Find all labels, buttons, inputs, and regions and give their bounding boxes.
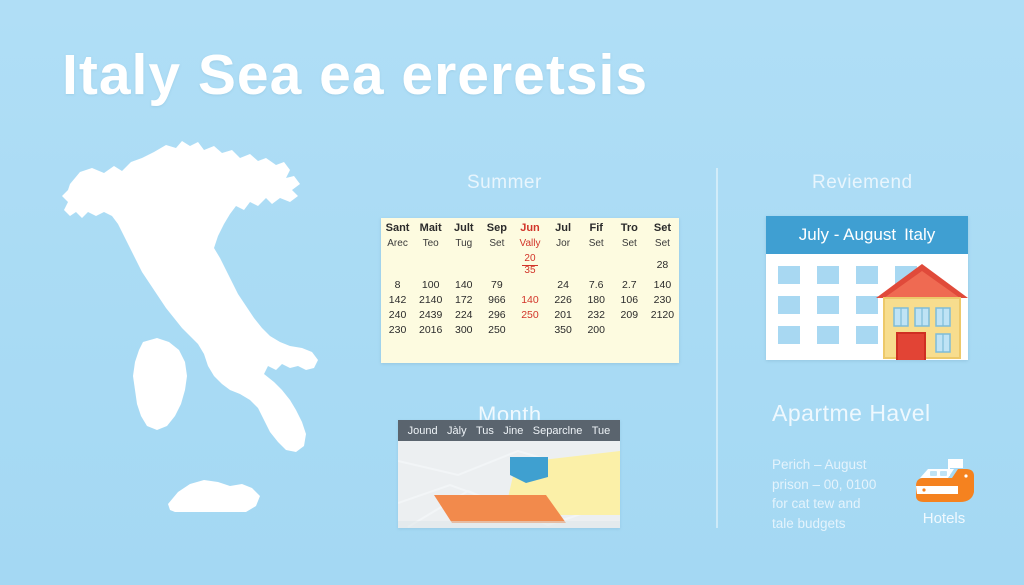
table-col-subheader-3: Set	[480, 237, 513, 254]
table-cell: 180	[580, 293, 613, 308]
infographic-canvas: Italy Sea ea ereretsis Summer Reviemend …	[0, 0, 1024, 585]
table-col-subheader-5: Jor	[547, 237, 580, 254]
table-col-header-0: Sant	[381, 218, 414, 237]
table-cell: 2120	[646, 308, 679, 323]
calendar-cell	[817, 296, 839, 314]
table-col-subheader-8: Set	[646, 237, 679, 254]
apartme-line-0: Perich – August	[772, 455, 892, 475]
table-col-subheader-1: Teo	[414, 237, 447, 254]
table-cell: 296	[480, 308, 513, 323]
chart-region-orange	[434, 495, 566, 523]
chart-category-1: Jàly	[447, 425, 467, 437]
chart-category-3: Jine	[503, 425, 523, 437]
table-cell: 8	[381, 278, 414, 293]
table-cell: 79	[480, 278, 513, 293]
table-cell	[513, 323, 546, 338]
table-header-row-1: SantMaitJultSepJunJulFifTroSet	[381, 218, 679, 237]
table-cell: 2016	[414, 323, 447, 338]
table-cell	[381, 253, 414, 278]
table-head: SantMaitJultSepJunJulFifTroSet ArecTeoTu…	[381, 218, 679, 253]
table-col-header-1: Mait	[414, 218, 447, 237]
chart-category-5: Tue	[592, 425, 611, 437]
italy-map-icon	[18, 132, 358, 512]
table-col-subheader-4: Vally	[513, 237, 546, 254]
month-chart-card: JoundJàlyTusJineSeparclneTue	[398, 420, 620, 528]
table-cell: 2140	[414, 293, 447, 308]
calendar-body	[766, 254, 968, 360]
calendar-country-label: Italy	[904, 225, 935, 245]
apartme-line-2: for cat tew and	[772, 494, 892, 514]
data-table: SantMaitJultSepJunJulFifTroSet ArecTeoTu…	[381, 218, 679, 338]
table-cell: 230	[381, 323, 414, 338]
calendar-cell	[817, 266, 839, 284]
section-label-apartme: Apartme Havel	[772, 400, 931, 427]
table-col-subheader-6: Set	[580, 237, 613, 254]
house-icon	[874, 258, 968, 360]
table-cell: 300	[447, 323, 480, 338]
table-cell: 2.7	[613, 278, 646, 293]
apartme-line-3: tale budgets	[772, 514, 892, 534]
table-col-header-3: Sep	[480, 218, 513, 237]
table-cell	[580, 253, 613, 278]
fraction-cell: 2035	[522, 254, 537, 276]
table-header-row-2: ArecTeoTugSetVallyJorSetSetSet	[381, 237, 679, 254]
chart-category-header: JoundJàlyTusJineSeparclneTue	[398, 420, 620, 441]
boat-icon	[908, 456, 980, 506]
table-cell: 209	[613, 308, 646, 323]
table-cell: 2035	[513, 253, 546, 278]
calendar-cell	[778, 296, 800, 314]
table-col-header-8: Set	[646, 218, 679, 237]
table-col-header-7: Tro	[613, 218, 646, 237]
table-cell: 140	[513, 293, 546, 308]
chart-category-4: Separclne	[533, 425, 583, 437]
page-title: Italy Sea ea ereretsis	[62, 42, 648, 108]
table-cell: 7.6	[580, 278, 613, 293]
table-cell: 140	[447, 278, 480, 293]
table-cell: 226	[547, 293, 580, 308]
table-cell: 201	[547, 308, 580, 323]
table-cell: 230	[646, 293, 679, 308]
table-row: 24024392242962502012322092120	[381, 308, 679, 323]
table-col-header-5: Jul	[547, 218, 580, 237]
table-col-subheader-7: Set	[613, 237, 646, 254]
chart-category-2: Tus	[476, 425, 494, 437]
table-cell	[513, 278, 546, 293]
table-row: 810014079247.62.7140	[381, 278, 679, 293]
calendar-period-label: July - August	[799, 225, 896, 245]
table-cell	[447, 253, 480, 278]
table-cell	[646, 323, 679, 338]
section-label-summer: Summer	[467, 172, 542, 194]
table-cell: 200	[580, 323, 613, 338]
table-cell: 240	[381, 308, 414, 323]
apartme-line-1: prison – 00, 0100	[772, 475, 892, 495]
table-cell	[613, 253, 646, 278]
table-cell	[547, 253, 580, 278]
calendar-cell	[778, 266, 800, 284]
table-cell: 350	[547, 323, 580, 338]
table-row: 203528	[381, 253, 679, 278]
table-cell: 250	[513, 308, 546, 323]
table-cell: 224	[447, 308, 480, 323]
chart-category-0: Jound	[408, 425, 438, 437]
table-cell: 24	[547, 278, 580, 293]
vertical-divider	[716, 168, 718, 528]
table-cell: 140	[646, 278, 679, 293]
table-cell	[613, 323, 646, 338]
table-col-subheader-0: Arec	[381, 237, 414, 254]
table-cell: 106	[613, 293, 646, 308]
table-col-header-4: Jun	[513, 218, 546, 237]
table-col-header-2: Jult	[447, 218, 480, 237]
apartme-description: Perich – Augustprison – 00, 0100for cat …	[772, 455, 892, 533]
calendar-hotel-card: July - August Italy	[766, 216, 968, 360]
section-label-reviemend: Reviemend	[812, 172, 913, 194]
chart-plot-area	[398, 441, 620, 528]
boat-block: Hotels	[898, 456, 990, 527]
table-cell: 142	[381, 293, 414, 308]
calendar-cell	[778, 326, 800, 344]
table-cell: 250	[480, 323, 513, 338]
table-col-header-6: Fif	[580, 218, 613, 237]
boat-caption: Hotels	[898, 510, 990, 527]
table-cell	[414, 253, 447, 278]
table-cell: 28	[646, 253, 679, 278]
table-cell: 100	[414, 278, 447, 293]
table-col-subheader-2: Tug	[447, 237, 480, 254]
table-cell: 232	[580, 308, 613, 323]
table-cell: 966	[480, 293, 513, 308]
table-row: 2302016300250350200	[381, 323, 679, 338]
table-cell	[480, 253, 513, 278]
data-table-card: SantMaitJultSepJunJulFifTroSet ArecTeoTu…	[381, 218, 679, 363]
table-row: 1422140172966140226180106230	[381, 293, 679, 308]
table-body: 203528810014079247.62.714014221401729661…	[381, 253, 679, 338]
table-cell: 2439	[414, 308, 447, 323]
calendar-cell	[817, 326, 839, 344]
table-cell: 172	[447, 293, 480, 308]
calendar-header: July - August Italy	[766, 216, 968, 254]
